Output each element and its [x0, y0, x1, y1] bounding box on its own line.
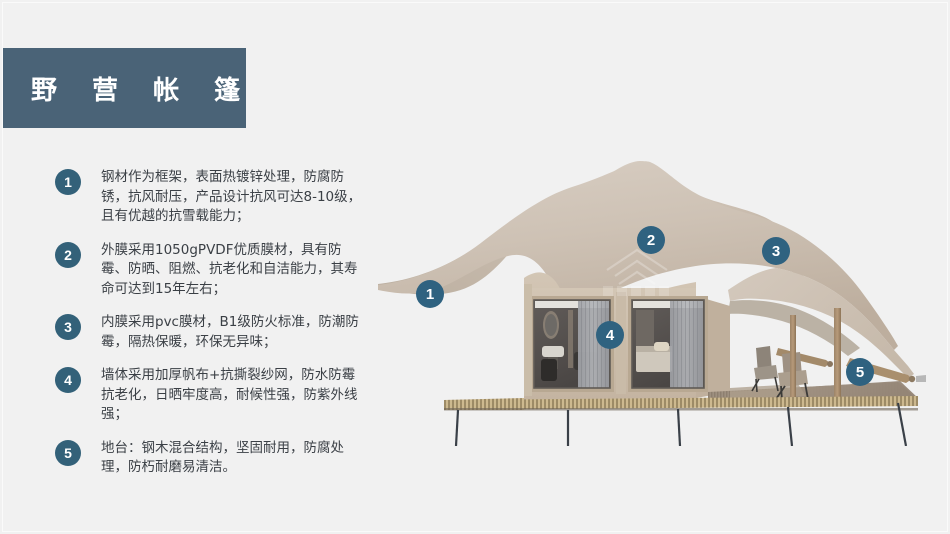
feature-text-2: 外膜采用1050gPVDF优质膜材，具有防霉、防晒、阻燃、抗老化和自洁能力，其寿…: [101, 241, 363, 300]
feature-badge-4: 4: [55, 367, 81, 393]
window-right: [628, 296, 708, 392]
feature-badge-3: 3: [55, 314, 81, 340]
list-item: 4 墙体采用加厚帆布+抗撕裂纱网，防水防霉抗老化，日晒牢度高，耐候性强，防紫外线…: [55, 366, 375, 425]
page-root: 野 营 帐 篷 1 钢材作为框架，表面热镀锌处理，防腐防锈，抗风耐压，产品设计抗…: [0, 0, 950, 534]
feature-badge-5: 5: [55, 440, 81, 466]
feature-badge-2: 2: [55, 242, 81, 268]
tent-illustration: [378, 160, 950, 446]
feature-text-1: 钢材作为框架，表面热镀锌处理，防腐防锈，抗风耐压，产品设计抗风可达8-10级，且…: [101, 168, 363, 227]
callout-badge-2: 2: [637, 226, 665, 254]
pillow-shape: [654, 342, 669, 351]
feature-list: 1 钢材作为框架，表面热镀锌处理，防腐防锈，抗风耐压，产品设计抗风可达8-10级…: [55, 168, 375, 478]
curtain-right: [670, 301, 703, 388]
feature-text-3: 内膜采用pvc膜材，B1级防火标准，防潮防霉，隔热保暖，环保无异味；: [101, 313, 363, 352]
callout-badge-4: 4: [596, 321, 624, 349]
sink-shape: [542, 346, 564, 357]
chair-left: [752, 346, 778, 392]
feature-text-5: 地台：钢木混合结构，坚固耐用，防腐处理，防朽耐磨易清洁。: [101, 439, 363, 478]
feature-badge-1: 1: [55, 169, 81, 195]
callout-badge-1: 1: [416, 280, 444, 308]
callout-badge-3: 3: [762, 237, 790, 265]
page-title: 野 营 帐 篷: [31, 70, 253, 107]
list-item: 2 外膜采用1050gPVDF优质膜材，具有防霉、防晒、阻燃、抗老化和自洁能力，…: [55, 241, 375, 300]
title-banner: 野 营 帐 篷: [3, 48, 246, 128]
list-item: 3 内膜采用pvc膜材，B1级防火标准，防潮防霉，隔热保暖，环保无异味；: [55, 313, 375, 352]
support-pole-2: [834, 308, 841, 400]
list-item: 5 地台：钢木混合结构，坚固耐用，防腐处理，防朽耐磨易清洁。: [55, 439, 375, 478]
bin-shape: [541, 359, 557, 381]
callout-badge-5: 5: [846, 358, 874, 386]
feature-text-4: 墙体采用加厚帆布+抗撕裂纱网，防水防霉抗老化，日晒牢度高，耐候性强，防紫外线强；: [101, 366, 363, 425]
deck-fascia-shadow: [444, 408, 918, 411]
wall-corner-post: [524, 284, 532, 396]
support-pole-1: [790, 315, 796, 397]
list-item: 1 钢材作为框架，表面热镀锌处理，防腐防锈，抗风耐压，产品设计抗风可达8-10级…: [55, 168, 375, 227]
bed-shape: [636, 350, 672, 372]
